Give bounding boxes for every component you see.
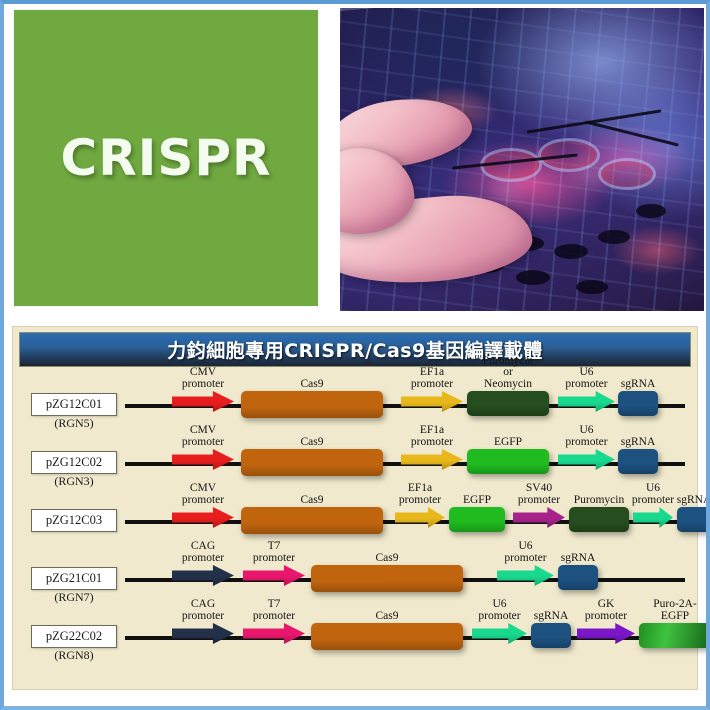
- feature-label-line2: promoter: [478, 611, 520, 623]
- genetic-feature[interactable]: sgRNA: [677, 507, 710, 532]
- gene-box[interactable]: [618, 391, 658, 416]
- feature-label-line2: promoter: [565, 437, 607, 449]
- genetic-feature[interactable]: CAGpromoter: [172, 565, 234, 586]
- genetic-feature[interactable]: CMVpromoter: [172, 449, 234, 470]
- feature-label-line2: promoter: [182, 379, 224, 391]
- feature-label: T7promoter: [253, 599, 295, 622]
- plasmid-name-box[interactable]: pZG12C01: [31, 393, 117, 416]
- genetic-feature[interactable]: EGFP: [449, 507, 505, 532]
- genetic-feature[interactable]: T7promoter: [243, 565, 305, 586]
- feature-label: EF1apromoter: [411, 425, 453, 448]
- gene-box[interactable]: [311, 623, 463, 650]
- genetic-feature[interactable]: EGFP: [467, 449, 549, 474]
- feature-label-line2: promoter: [253, 553, 295, 565]
- header-image-row: CRISPR: [4, 4, 706, 320]
- promoter-arrow[interactable]: [558, 391, 615, 412]
- promoter-arrow[interactable]: [243, 565, 305, 586]
- feature-label: EGFP: [463, 495, 491, 507]
- genetic-feature[interactable]: sgRNA: [618, 449, 658, 474]
- feature-label-line3: Neomycin: [483, 379, 533, 391]
- genetic-feature[interactable]: U6promoter: [472, 623, 527, 644]
- vector-row: pZG12C01(RGN5)CMVpromoterCas9EF1apromote…: [17, 371, 693, 429]
- plasmid-name-box[interactable]: pZG12C02: [31, 451, 117, 474]
- genetic-feature[interactable]: U6promoter: [633, 507, 673, 528]
- feature-label: Cas9: [301, 379, 324, 391]
- page-root: CRISPR 力鈞細: [0, 0, 710, 710]
- promoter-arrow[interactable]: [395, 507, 445, 528]
- genetic-feature[interactable]: CMVpromoter: [172, 391, 234, 412]
- promoter-arrow[interactable]: [172, 449, 234, 470]
- feature-label: Cas9: [376, 553, 399, 565]
- plasmid-name-box[interactable]: pZG12C03: [31, 509, 117, 532]
- feature-label: Puromycin: [574, 495, 624, 507]
- promoter-arrow[interactable]: [558, 449, 615, 470]
- feature-label-line2: promoter: [253, 611, 295, 623]
- feature-label: EGFP: [494, 437, 522, 449]
- feature-label-line2: promoter: [585, 611, 627, 623]
- plasmid-rgn-label: (RGN8): [31, 648, 117, 663]
- feature-label: U6promoter: [565, 425, 607, 448]
- promoter-arrow[interactable]: [243, 623, 305, 644]
- feature-label: CAGpromoter: [182, 541, 224, 564]
- promoter-arrow[interactable]: [401, 449, 463, 470]
- feature-label: SV40promoter: [518, 483, 560, 506]
- feature-label: EF1apromoter: [399, 483, 441, 506]
- promoter-arrow[interactable]: [401, 391, 463, 412]
- feature-label: sgRNA: [677, 495, 710, 507]
- feature-label: U6promoter: [632, 483, 674, 506]
- feature-label: sgRNA: [621, 379, 656, 391]
- genetic-feature[interactable]: CAGpromoter: [172, 623, 234, 644]
- feature-label: U6promoter: [565, 367, 607, 390]
- genetic-feature[interactable]: U6promoter: [558, 391, 615, 412]
- feature-label-line2: promoter: [399, 495, 441, 507]
- genetic-feature[interactable]: EF1apromoter: [401, 449, 463, 470]
- feature-label-line2: promoter: [182, 611, 224, 623]
- promoter-arrow[interactable]: [172, 391, 234, 412]
- promoter-arrow[interactable]: [472, 623, 527, 644]
- genetic-feature[interactable]: Puro-2A-EGFP: [639, 623, 710, 648]
- genetic-feature[interactable]: Cas9: [241, 449, 383, 476]
- plasmid-name-box[interactable]: pZG21C01: [31, 567, 117, 590]
- genetic-feature[interactable]: sgRNA: [558, 565, 598, 590]
- vector-row: pZG22C02(RGN8)CAGpromoterT7promoterCas9U…: [17, 603, 693, 661]
- genetic-feature[interactable]: sgRNA: [618, 391, 658, 416]
- genetic-feature[interactable]: Cas9: [311, 623, 463, 650]
- genetic-feature[interactable]: EF1apromoter: [401, 391, 463, 412]
- promoter-arrow[interactable]: [633, 507, 673, 528]
- promoter-arrow[interactable]: [172, 507, 234, 528]
- gene-box[interactable]: [467, 391, 549, 416]
- feature-label: Cas9: [301, 437, 324, 449]
- promoter-arrow[interactable]: [577, 623, 635, 644]
- feature-label: Cas9: [301, 495, 324, 507]
- gene-box[interactable]: [569, 507, 629, 532]
- crispr-wordmark: CRISPR: [61, 129, 272, 187]
- feature-label-line2: promoter: [518, 495, 560, 507]
- feature-label-line2: promoter: [632, 495, 674, 507]
- genetic-feature[interactable]: Cas9: [241, 391, 383, 418]
- gene-box[interactable]: [241, 507, 383, 534]
- promoter-arrow[interactable]: [172, 623, 234, 644]
- genetic-feature[interactable]: U6promoter: [497, 565, 554, 586]
- genetic-feature[interactable]: EF1apromoter: [395, 507, 445, 528]
- vector-row: pZG12C02(RGN3)CMVpromoterCas9EF1apromote…: [17, 429, 693, 487]
- gene-box[interactable]: [241, 391, 383, 418]
- vector-row: pZG12C03CMVpromoterCas9EF1apromoterEGFPS…: [17, 487, 693, 545]
- crispr-logo-panel: CRISPR: [14, 10, 318, 306]
- feature-label: U6promoter: [478, 599, 520, 622]
- genetic-feature[interactable]: sgRNA: [531, 623, 571, 648]
- photo-vignette-layer: [340, 8, 704, 311]
- feature-label: EF1apromoter: [411, 367, 453, 390]
- vector-map-rows: pZG12C01(RGN5)CMVpromoterCas9EF1apromote…: [13, 371, 697, 661]
- feature-label-line2: EGFP: [653, 611, 696, 623]
- feature-label-line2: promoter: [411, 379, 453, 391]
- gene-box[interactable]: [531, 623, 571, 648]
- genetic-feature[interactable]: SV40promoter: [513, 507, 565, 528]
- vector-row: pZG21C01(RGN7)CAGpromoterT7promoterCas9U…: [17, 545, 693, 603]
- feature-label: sgRNA: [621, 437, 656, 449]
- gene-box[interactable]: [677, 507, 710, 532]
- feature-label: PuromycinorNeomycin: [483, 356, 533, 391]
- feature-label-line2: promoter: [182, 437, 224, 449]
- feature-label-line2: promoter: [411, 437, 453, 449]
- feature-label: CAGpromoter: [182, 599, 224, 622]
- vector-map-title-bar: 力鈞細胞專用CRISPR/Cas9基因編譯載體: [19, 332, 691, 367]
- genetic-feature[interactable]: T7promoter: [243, 623, 305, 644]
- genetic-feature[interactable]: Cas9: [311, 565, 463, 592]
- genetic-feature[interactable]: CMVpromoter: [172, 507, 234, 528]
- feature-label-line2: promoter: [565, 379, 607, 391]
- feature-label: Cas9: [376, 611, 399, 623]
- gene-box[interactable]: [618, 449, 658, 474]
- feature-label-line2: promoter: [182, 553, 224, 565]
- feature-label: sgRNA: [561, 553, 596, 565]
- feature-label: CMVpromoter: [182, 483, 224, 506]
- promoter-arrow[interactable]: [497, 565, 554, 586]
- feature-label: U6promoter: [504, 541, 546, 564]
- feature-label-line2: promoter: [504, 553, 546, 565]
- gene-box[interactable]: [311, 565, 463, 592]
- feature-label-line2: promoter: [182, 495, 224, 507]
- feature-label: CMVpromoter: [182, 367, 224, 390]
- gene-box[interactable]: [639, 623, 710, 648]
- promoter-arrow[interactable]: [513, 507, 565, 528]
- gene-box[interactable]: [558, 565, 598, 590]
- feature-label: sgRNA: [534, 611, 569, 623]
- promoter-arrow[interactable]: [172, 565, 234, 586]
- gene-box[interactable]: [449, 507, 505, 532]
- plasmid-name-box[interactable]: pZG22C02: [31, 625, 117, 648]
- genetic-feature[interactable]: Puromycin: [569, 507, 629, 532]
- feature-label: GKpromoter: [585, 599, 627, 622]
- genetic-feature[interactable]: U6promoter: [558, 449, 615, 470]
- genetic-feature[interactable]: Cas9: [241, 507, 383, 534]
- feature-label: Puro-2A-EGFP: [653, 599, 696, 622]
- genetic-feature[interactable]: GKpromoter: [577, 623, 635, 644]
- vector-map-panel: 力鈞細胞專用CRISPR/Cas9基因編譯載體 pZG12C01(RGN5)CM…: [12, 326, 698, 690]
- gene-box[interactable]: [467, 449, 549, 474]
- laboratory-photo: [340, 8, 704, 311]
- gene-box[interactable]: [241, 449, 383, 476]
- genetic-feature[interactable]: PuromycinorNeomycin: [467, 391, 549, 416]
- feature-label: T7promoter: [253, 541, 295, 564]
- feature-label: CMVpromoter: [182, 425, 224, 448]
